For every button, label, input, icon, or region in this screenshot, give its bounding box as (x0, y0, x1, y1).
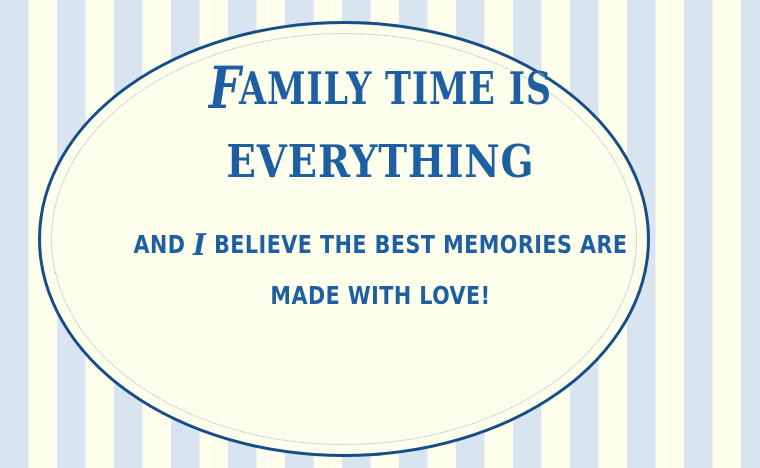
subtext: AND I BELIEVE THE BEST MEMORIES ARE MADE… (133, 184, 627, 308)
poster-content: FAMILY TIME IS EVERYTHING AND I BELIEVE … (0, 0, 760, 468)
headline-line-1-text: AMILY TIME IS (239, 62, 552, 115)
headline-line-2: EVERYTHING (208, 139, 551, 184)
poster-canvas: FAMILY TIME IS EVERYTHING AND I BELIEVE … (0, 0, 760, 468)
headline: FAMILY TIME IS EVERYTHING (181, 0, 580, 184)
subtext-line-1-after: BELIEVE THE BEST MEMORIES ARE (206, 230, 627, 259)
subtext-line-1: AND I BELIEVE THE BEST MEMORIES ARE (133, 232, 627, 257)
decorative-initial-f: F (208, 54, 238, 122)
subtext-line-2: MADE WITH LOVE! (133, 283, 627, 308)
headline-line-1: FAMILY TIME IS (208, 66, 551, 111)
decorative-initial-i: I (193, 228, 206, 263)
subtext-line-1-before: AND (133, 230, 193, 259)
